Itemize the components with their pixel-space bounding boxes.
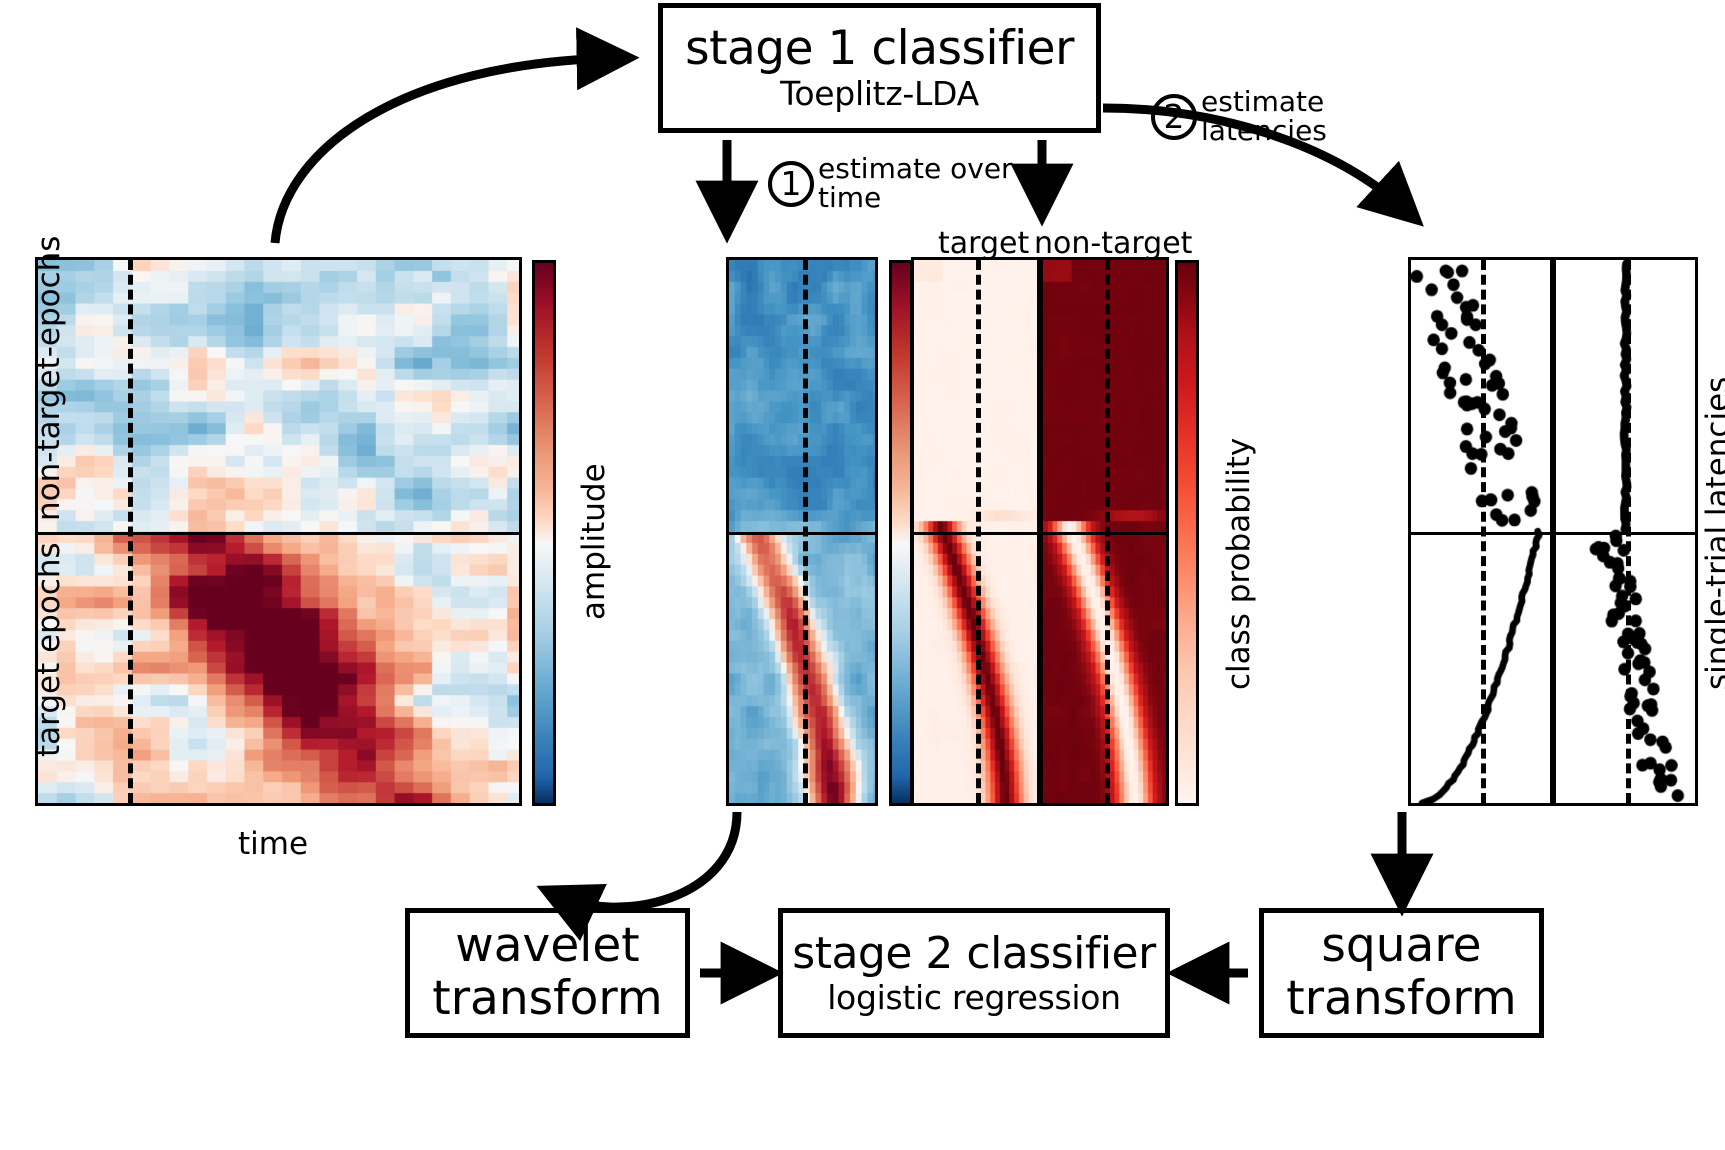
arrow-epochs-to-stage1 — [275, 58, 618, 243]
class-probability-colorbar-label: class probability — [1221, 438, 1257, 690]
step-1-label: estimate over time — [818, 155, 1013, 212]
probability-target-marker-line — [976, 260, 981, 803]
stage2-classifier-box: stage 2 classifier logistic regression — [778, 908, 1170, 1038]
wavelet-transform-box: wavelet transform — [405, 908, 690, 1038]
square-transform-box: square transform — [1259, 908, 1544, 1038]
square-transform-title: square transform — [1286, 920, 1516, 1025]
latencies-left-marker-line — [1481, 260, 1486, 803]
epochs-target-row-label: target epochs — [31, 542, 67, 757]
score-colorbar — [889, 260, 913, 806]
latencies-right-marker-line — [1626, 260, 1631, 803]
latencies-left-subpanel — [1408, 257, 1553, 806]
stage1-classifier-box: stage 1 classifier Toeplitz-LDA — [658, 3, 1101, 133]
stage2-subtitle: logistic regression — [827, 981, 1121, 1016]
amplitude-colorbar-label: amplitude — [576, 463, 612, 620]
arrow-score-to-wavelet — [556, 812, 737, 907]
epochs-time-axis-label: time — [238, 826, 308, 862]
epochs-heatmap-panel — [35, 257, 522, 806]
step-badge-1: 1 estimate over time — [768, 155, 1013, 212]
class-probability-colorbar — [1175, 260, 1199, 806]
score-class-split-line — [729, 532, 875, 535]
epochs-nontarget-row-label: non-target-epochs — [31, 236, 67, 521]
probability-nontarget-marker-line — [1105, 260, 1110, 803]
step-badge-2: 2 estimate latencies — [1151, 88, 1327, 145]
latencies-axis-label: single-trial latencies — [1700, 377, 1725, 690]
epochs-event-marker-line — [128, 260, 133, 803]
step-2-number: 2 — [1151, 94, 1197, 140]
probability-nontarget-subpanel — [1040, 257, 1169, 806]
stage1-subtitle: Toeplitz-LDA — [780, 77, 979, 112]
probability-target-subpanel — [911, 257, 1040, 806]
stage2-title: stage 2 classifier — [792, 931, 1155, 977]
stage1-title: stage 1 classifier — [685, 24, 1074, 73]
latencies-right-subpanel — [1553, 257, 1698, 806]
wavelet-transform-title: wavelet transform — [432, 920, 662, 1025]
epochs-class-split-line — [38, 532, 519, 535]
step-1-number: 1 — [768, 161, 814, 207]
step-2-label: estimate latencies — [1201, 88, 1327, 145]
amplitude-colorbar — [532, 260, 556, 806]
probability-target-column-label: target — [938, 226, 1029, 261]
score-event-marker-line — [803, 260, 808, 803]
score-heatmap-panel — [726, 257, 878, 806]
probability-nontarget-column-label: non-target — [1034, 226, 1192, 261]
